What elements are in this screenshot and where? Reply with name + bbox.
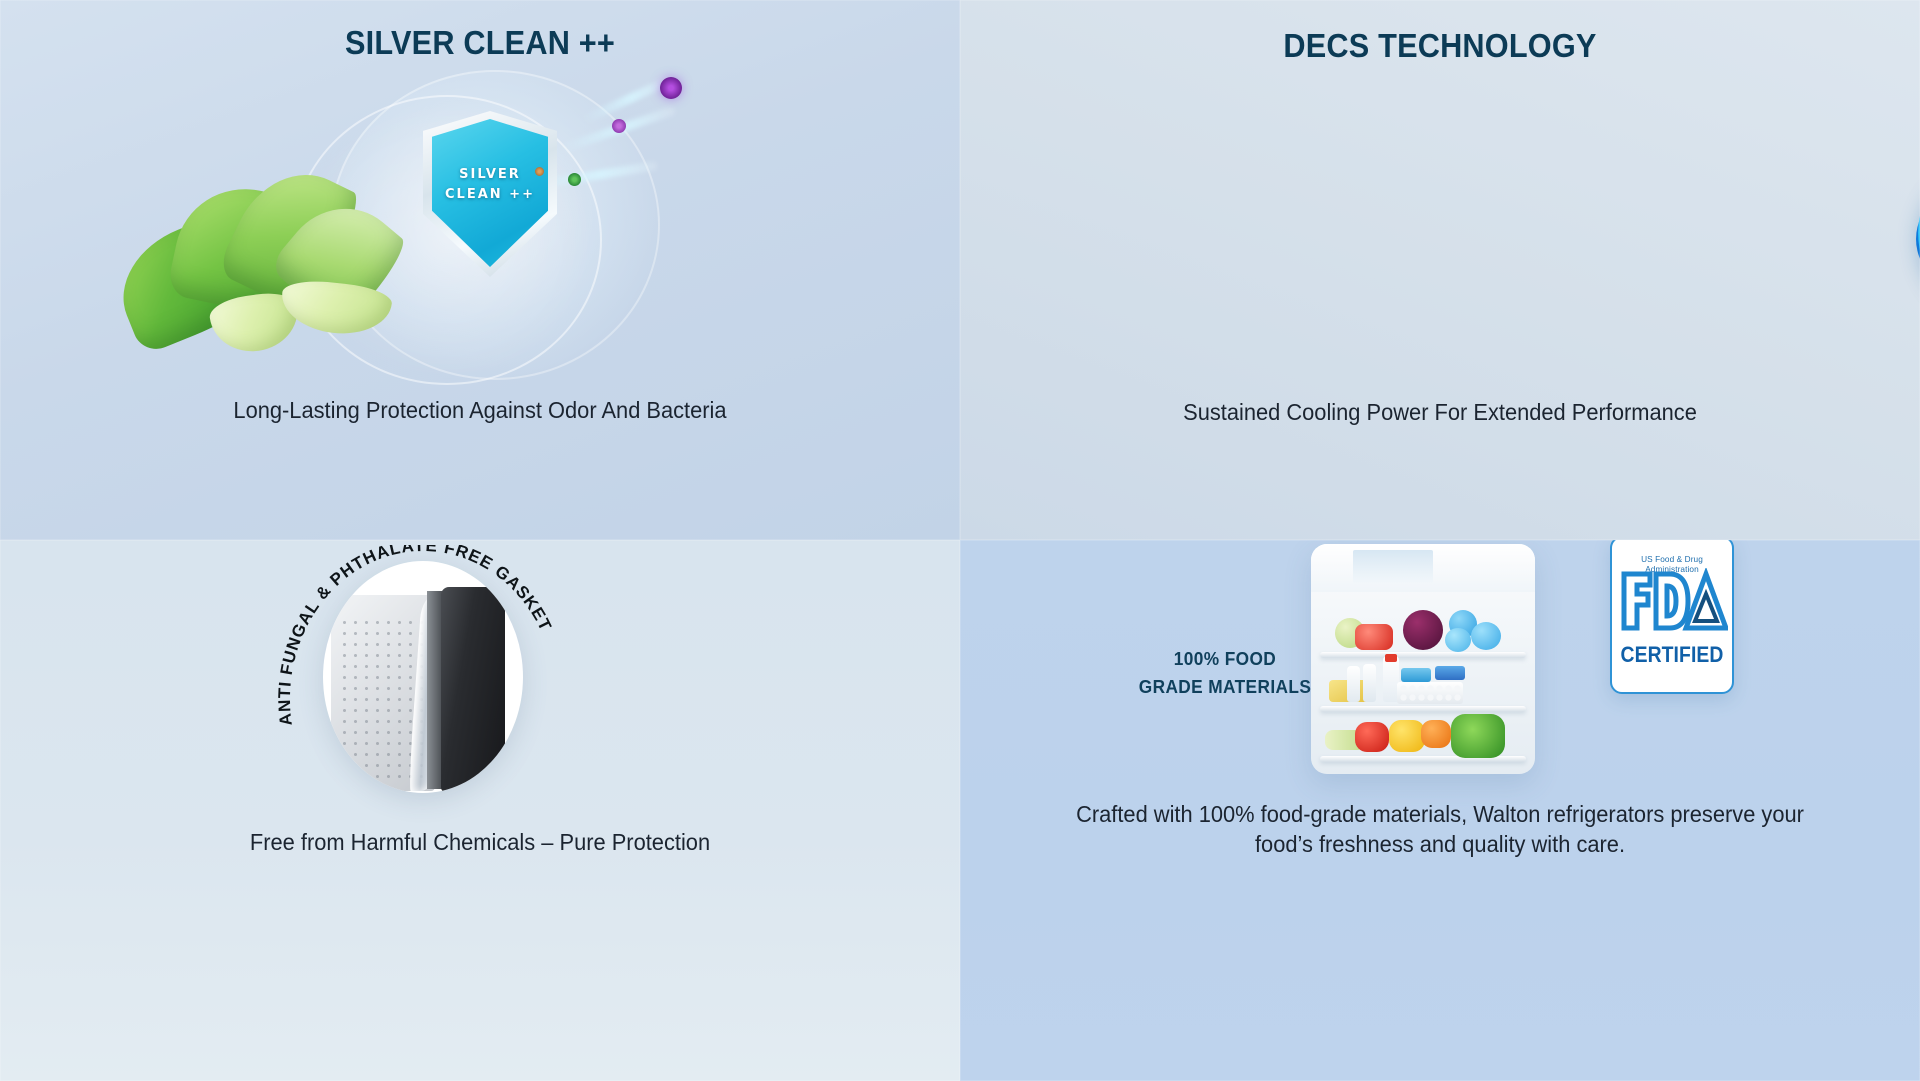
panel-caption-fda: Crafted with 100% food-grade materials, … — [984, 799, 1896, 860]
panel-caption-gasket: Free from Harmful Chemicals – Pure Prote… — [24, 827, 936, 857]
panel-fda-certified: FDA CERTIFIED 100% FOOD GRADE MATERIALS — [960, 540, 1920, 1081]
food-item-yellow-pepper — [1389, 720, 1425, 752]
panel-caption-silver-clean: Long-Lasting Protection Against Odor And… — [24, 395, 936, 425]
bottle-cap — [1385, 654, 1397, 662]
fridge-shelf — [1320, 706, 1526, 712]
gasket-arc-label: ANTI FUNGAL & PHTHALATE FREE GASKET — [275, 545, 556, 727]
food-grade-label-line1: 100% FOOD — [1110, 646, 1340, 674]
bacteria-icon — [535, 167, 544, 176]
gasket-illustration: ANTI FUNGAL & PHTHALATE FREE GASKET — [258, 545, 588, 800]
food-item-orange-pepper — [1421, 720, 1451, 748]
fridge-shelf — [1320, 652, 1526, 658]
panel-title-decs: DECS TECHNOLOGY — [994, 27, 1887, 65]
fda-logo-icon — [1620, 568, 1728, 634]
gasket-arc-text: ANTI FUNGAL & PHTHALATE FREE GASKET — [258, 545, 588, 800]
panel-phthalate-free-gasket: PHTHALATE FREE GASKET ANTI FUNGAL & PHTH… — [0, 540, 960, 1081]
fda-certified-badge: US Food & Drug Administration CERTIFIED — [1610, 540, 1734, 694]
food-item-container — [1435, 666, 1465, 680]
food-item-milk-bottle — [1363, 664, 1376, 702]
food-item-red-cabbage — [1403, 610, 1443, 650]
food-item-milk-bottle — [1347, 666, 1360, 702]
shield-label-line2: CLEAN ++ — [423, 185, 557, 205]
decs-illustration: DECS Longer Enduring Cooling System — [1840, 70, 1920, 370]
bacteria-icon — [568, 173, 581, 186]
bacteria-icon — [660, 77, 682, 99]
food-grade-label: 100% FOOD GRADE MATERIALS — [1110, 646, 1340, 702]
food-item-red-pepper — [1355, 722, 1389, 752]
silver-clean-illustration: SILVER CLEAN ++ — [60, 55, 760, 385]
food-item-egg-tray — [1397, 682, 1463, 704]
panel-caption-decs: Sustained Cooling Power For Extended Per… — [984, 397, 1896, 427]
panel-decs-technology: DECS Longer Enduring Cooling System DECS… — [960, 0, 1920, 540]
food-grade-label-line2: GRADE MATERIALS — [1110, 674, 1340, 702]
food-item-blue-pack — [1471, 622, 1501, 650]
food-item-container — [1401, 668, 1431, 682]
food-item-blue-pack — [1445, 628, 1471, 652]
fridge-top-shelf — [1311, 544, 1535, 592]
refrigerator-interior-image — [1311, 544, 1535, 774]
fda-badge-status: CERTIFIED — [1619, 642, 1725, 668]
food-item-tomatoes — [1355, 624, 1393, 650]
feature-grid: SILVER CLEAN ++ SILVER CLEAN ++ Long-Las… — [0, 0, 1920, 1081]
bacteria-icon — [612, 119, 626, 133]
panel-title-silver-clean: SILVER CLEAN ++ — [34, 24, 927, 62]
leafy-vegetable-image — [115, 165, 415, 365]
food-item-lettuce — [1451, 714, 1505, 758]
panel-silver-clean: SILVER CLEAN ++ SILVER CLEAN ++ Long-Las… — [0, 0, 960, 540]
